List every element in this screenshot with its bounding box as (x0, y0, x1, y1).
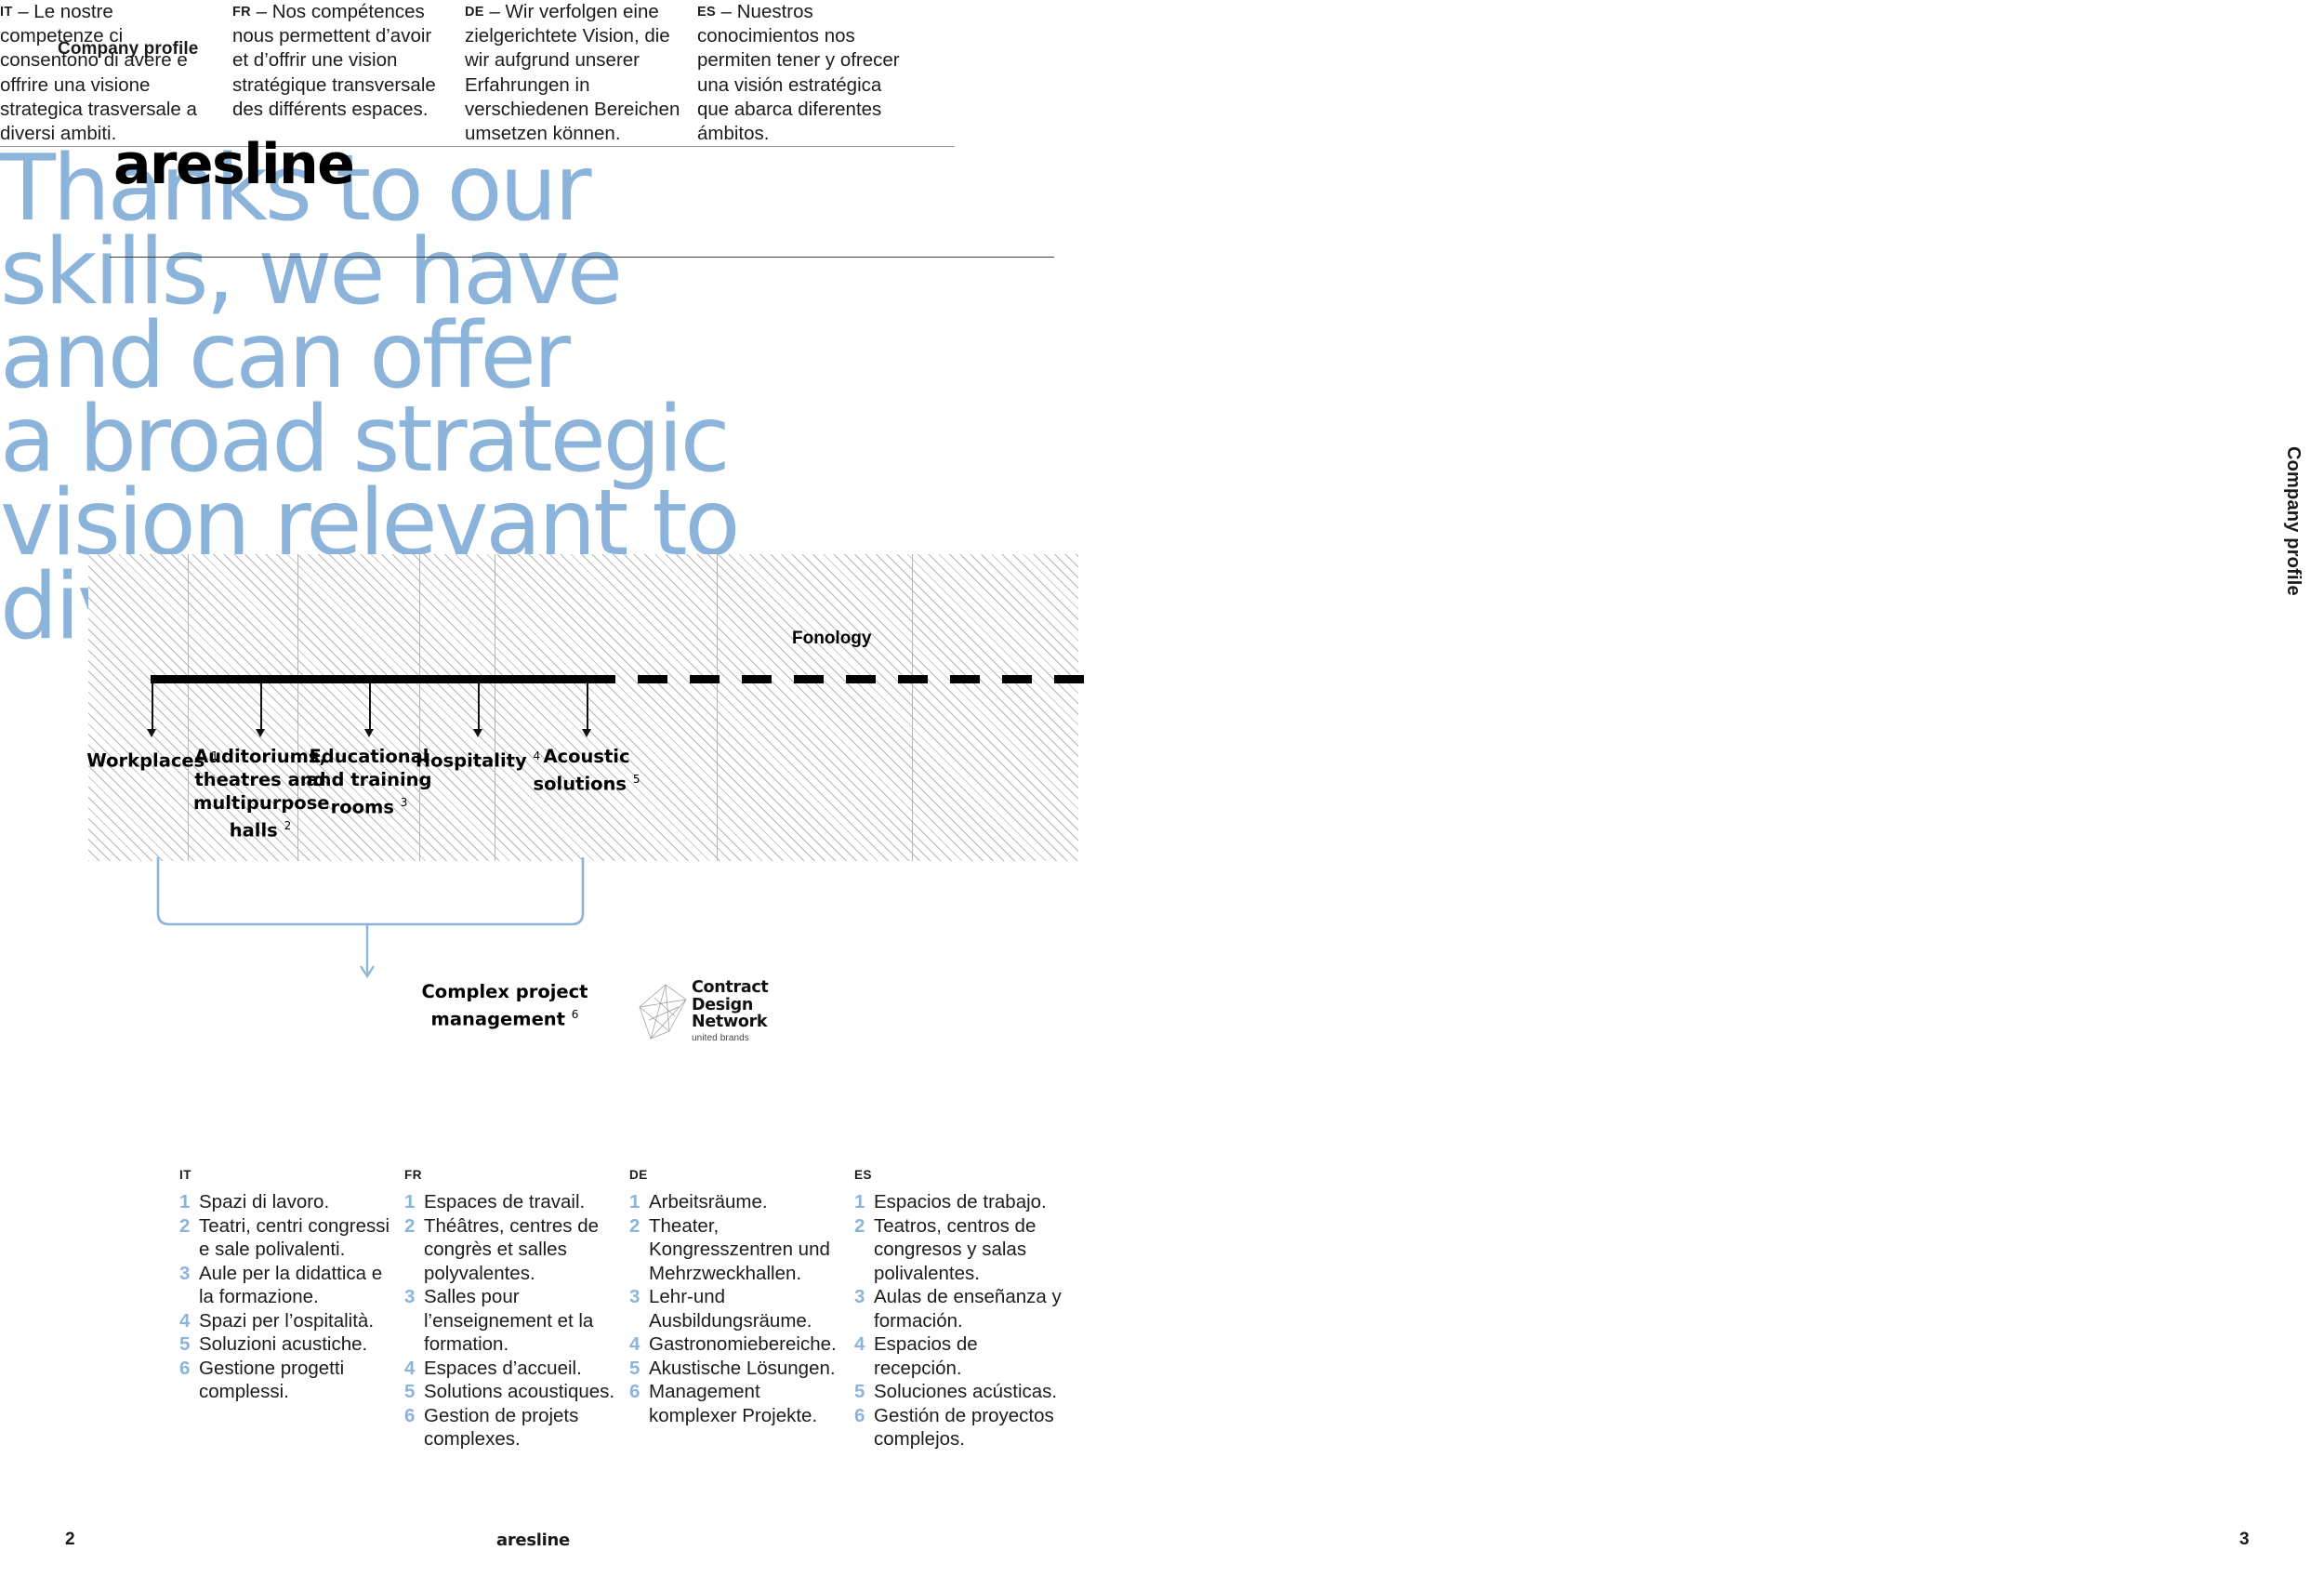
category-label-text: Acoustic solutions (534, 746, 630, 795)
footnote-text: Salles pour l’enseignement et la formati… (424, 1285, 620, 1357)
footnote-text: Theater, Kongresszentren und Mehrzweckha… (649, 1214, 845, 1286)
footnote-item: 6Management komplexer Projekte. (629, 1380, 845, 1427)
footnote-item: 6Gestione progetti complessi. (179, 1357, 395, 1404)
footnote-number: 4 (179, 1309, 191, 1333)
brand-logo: aresline (113, 132, 353, 197)
footnote-item: 4Espaces d’accueil. (404, 1357, 620, 1381)
footnote-text: Arbeitsräume. (649, 1190, 845, 1214)
footnote-text: Aulas de enseñanza y formación. (874, 1285, 1070, 1332)
footnote-number: 2 (179, 1214, 191, 1262)
category-note-ref: 3 (401, 796, 408, 809)
diagram-column-divider (495, 554, 495, 861)
timeline-dashed-bar (586, 675, 1088, 683)
footnote-item: 1Arbeitsräume. (629, 1190, 845, 1214)
footnote-number: 5 (629, 1357, 641, 1381)
footer-brand: aresline (496, 1531, 570, 1550)
cdn-wordmark: Contract Design Network (692, 979, 768, 1031)
footnote-text: Espacios de trabajo. (874, 1190, 1070, 1214)
footnote-item: 5Solutions acoustiques. (404, 1380, 620, 1404)
diagram-drop-line (260, 683, 262, 734)
footnote-item: 4Espacios de recepción. (854, 1332, 1070, 1380)
footnote-number: 4 (854, 1332, 866, 1380)
footnote-item: 2Teatri, centri congressi e sale polival… (179, 1214, 395, 1262)
footnote-number: 3 (854, 1285, 866, 1332)
footnote-item: 3Aule per la didattica e la formazione. (179, 1262, 395, 1309)
footnote-text: Gestion de projets complexes. (424, 1404, 620, 1451)
footnote-number: 2 (854, 1214, 866, 1286)
intro-paragraph: IT – Le nostre competenze ci consentono … (0, 0, 216, 146)
diagram-column-divider (912, 554, 913, 861)
footnote-item: 4Spazi per l’ospitalità. (179, 1309, 395, 1333)
brand-divider (110, 257, 1054, 258)
footnote-number: 6 (854, 1404, 866, 1451)
intro-paragraph: ES – Nuestros conocimientos nos permiten… (697, 0, 913, 146)
footnote-number: 2 (404, 1214, 416, 1286)
footnote-item: 1Espacios de trabajo. (854, 1190, 1070, 1214)
footnote-number: 3 (404, 1285, 416, 1357)
diagram-arrow-head-icon (147, 729, 156, 737)
category-label-text: Workplaces (86, 750, 205, 772)
category-note-ref: 5 (633, 773, 640, 786)
footnote-item: 4Gastronomiebereiche. (629, 1332, 845, 1357)
cdn-line-1: Contract (692, 979, 768, 997)
diagram-arrow-head-icon (256, 729, 265, 737)
diagram-category-acoustic[interactable]: Acoustic solutions 5 (522, 745, 652, 796)
headline-line-3: and can offer (0, 314, 985, 398)
footnote-column-fr: FR1Espaces de travail.2Théâtres, centres… (404, 1168, 629, 1451)
footnote-language-tag: FR (404, 1168, 620, 1182)
diagram-arrow-head-icon (364, 729, 374, 737)
intro-column-it: IT – Le nostre competenze ci consentono … (0, 0, 232, 146)
running-head-right: Company profile (2282, 446, 2304, 596)
cdn-line-2: Design (692, 997, 768, 1014)
footnote-number: 2 (629, 1214, 641, 1286)
timeline-solid-bar (151, 675, 586, 683)
diagram-drop-line (152, 683, 153, 734)
footnote-number: 5 (404, 1380, 416, 1404)
footnote-column-it: IT1Spazi di lavoro.2Teatri, centri congr… (179, 1168, 404, 1451)
headline-line-2: skills, we have (0, 231, 985, 314)
outcome-label-text: Complex project management (421, 981, 588, 1030)
footnote-text: Spazi per l’ospitalità. (199, 1309, 395, 1333)
headline-line-5: vision relevant to (0, 482, 985, 565)
footnote-number: 6 (179, 1357, 191, 1404)
footnote-text: Soluzioni acustiche. (199, 1332, 395, 1357)
diagram-arrow-head-icon (582, 729, 591, 737)
footnote-item: 5Soluciones acústicas. (854, 1380, 1070, 1404)
footnote-language-tag: DE (629, 1168, 845, 1182)
footnote-text: Gestione progetti complessi. (199, 1357, 395, 1404)
intro-language-tag: ES (697, 5, 716, 20)
footnote-number: 4 (404, 1357, 416, 1381)
footnote-text: Teatros, centros de congresos y salas po… (874, 1214, 1070, 1286)
footnote-item: 5Soluzioni acustiche. (179, 1332, 395, 1357)
intro-paragraph: DE – Wir verfolgen eine zielgerichtete V… (465, 0, 680, 146)
footnote-text: Solutions acoustiques. (424, 1380, 620, 1404)
footnote-text: Soluciones acústicas. (874, 1380, 1070, 1404)
intro-language-columns: IT – Le nostre competenze ci consentono … (0, 0, 971, 146)
timeline-label-fonology: Fonology (792, 629, 871, 649)
footnote-text: Spazi di lavoro. (199, 1190, 395, 1214)
footnote-text: Théâtres, centres de congrès et salles p… (424, 1214, 620, 1286)
category-note-ref: 2 (284, 819, 292, 832)
diagram-column-divider (717, 554, 718, 861)
footnote-item: 6Gestión de proyectos complejos. (854, 1404, 1070, 1451)
diagram-drop-line (369, 683, 371, 734)
footnote-column-es: ES1Espacios de trabajo.2Teatros, centros… (854, 1168, 1079, 1451)
intro-paragraph: FR – Nos compétences nous permettent d’a… (232, 0, 448, 122)
footnote-number: 5 (179, 1332, 191, 1357)
diagram-drop-line (478, 683, 480, 734)
footnote-text: Espaces de travail. (424, 1190, 620, 1214)
category-label-text: Hospitality (416, 750, 527, 772)
intro-column-fr: FR – Nos compétences nous permettent d’a… (232, 0, 465, 146)
footnote-text: Akustische Lösungen. (649, 1357, 845, 1381)
diagram-drop-line (587, 683, 588, 734)
footnote-number: 1 (629, 1190, 641, 1214)
footnote-number: 1 (179, 1190, 191, 1214)
footnote-text: Lehr-und Ausbildungsräume. (649, 1285, 845, 1332)
footnote-number: 3 (629, 1285, 641, 1332)
footnote-number: 6 (404, 1404, 416, 1451)
footnote-language-tag: ES (854, 1168, 1070, 1182)
footnote-text: Aule per la didattica e la formazione. (199, 1262, 395, 1309)
intro-column-es: ES – Nuestros conocimientos nos permiten… (697, 0, 930, 146)
running-head-left: Company profile (58, 39, 198, 60)
footnote-number: 6 (629, 1380, 641, 1427)
footnote-item: 1Espaces de travail. (404, 1190, 620, 1214)
folio-right: 3 (2239, 1530, 2250, 1550)
folio-left: 2 (65, 1530, 75, 1550)
footnote-item: 5Akustische Lösungen. (629, 1357, 845, 1381)
footnotes-multilingual: IT1Spazi di lavoro.2Teatri, centri congr… (179, 1168, 1109, 1451)
diagram-outcome-complex-project-management[interactable]: Complex project management 6 (416, 980, 593, 1031)
footnote-number: 4 (629, 1332, 641, 1357)
footnote-item: 2Teatros, centros de congresos y salas p… (854, 1214, 1070, 1286)
footnote-number: 5 (854, 1380, 866, 1404)
capabilities-diagram: Fonology Workplaces 1 Auditoriums, theat… (88, 554, 1078, 861)
intro-column-de: DE – Wir verfolgen eine zielgerichtete V… (465, 0, 697, 146)
footnote-text: Espacios de recepción. (874, 1332, 1070, 1380)
contract-design-network-logo: Contract Design Network united brands (638, 979, 777, 1046)
footnote-number: 1 (854, 1190, 866, 1214)
intro-language-tag: FR (232, 5, 251, 20)
intro-language-tag: IT (0, 5, 13, 20)
diagram-column-divider (188, 554, 189, 861)
cdn-line-3: Network (692, 1014, 768, 1031)
footnote-item: 2Théâtres, centres de congrès et salles … (404, 1214, 620, 1286)
headline-line-4: a broad strategic (0, 398, 985, 482)
footnote-item: 1Spazi di lavoro. (179, 1190, 395, 1214)
intro-language-tag: DE (465, 5, 484, 20)
footnote-language-tag: IT (179, 1168, 395, 1182)
footnote-item: 2Theater, Kongresszentren und Mehrzweckh… (629, 1214, 845, 1286)
diagram-arrow-head-icon (473, 729, 482, 737)
footnote-text: Gastronomiebereiche. (649, 1332, 845, 1357)
footnote-text: Espaces d’accueil. (424, 1357, 620, 1381)
footnote-text: Gestión de proyectos complejos. (874, 1404, 1070, 1451)
footnote-number: 3 (179, 1262, 191, 1309)
footnote-text: Teatri, centri congressi e sale polivale… (199, 1214, 395, 1262)
cdn-tagline: united brands (692, 1033, 749, 1043)
footnote-item: 3Salles pour l’enseignement et la format… (404, 1285, 620, 1357)
footnote-item: 6Gestion de projets complexes. (404, 1404, 620, 1451)
outcome-note-ref: 6 (572, 1008, 579, 1021)
footnote-item: 3Aulas de enseñanza y formación. (854, 1285, 1070, 1332)
footnote-text: Management komplexer Projekte. (649, 1380, 845, 1427)
cdn-mark-icon (638, 979, 690, 1044)
footnote-column-de: DE1Arbeitsräume.2Theater, Kongresszentre… (629, 1168, 854, 1451)
footnote-number: 1 (404, 1190, 416, 1214)
footnote-item: 3Lehr-und Ausbildungsräume. (629, 1285, 845, 1332)
